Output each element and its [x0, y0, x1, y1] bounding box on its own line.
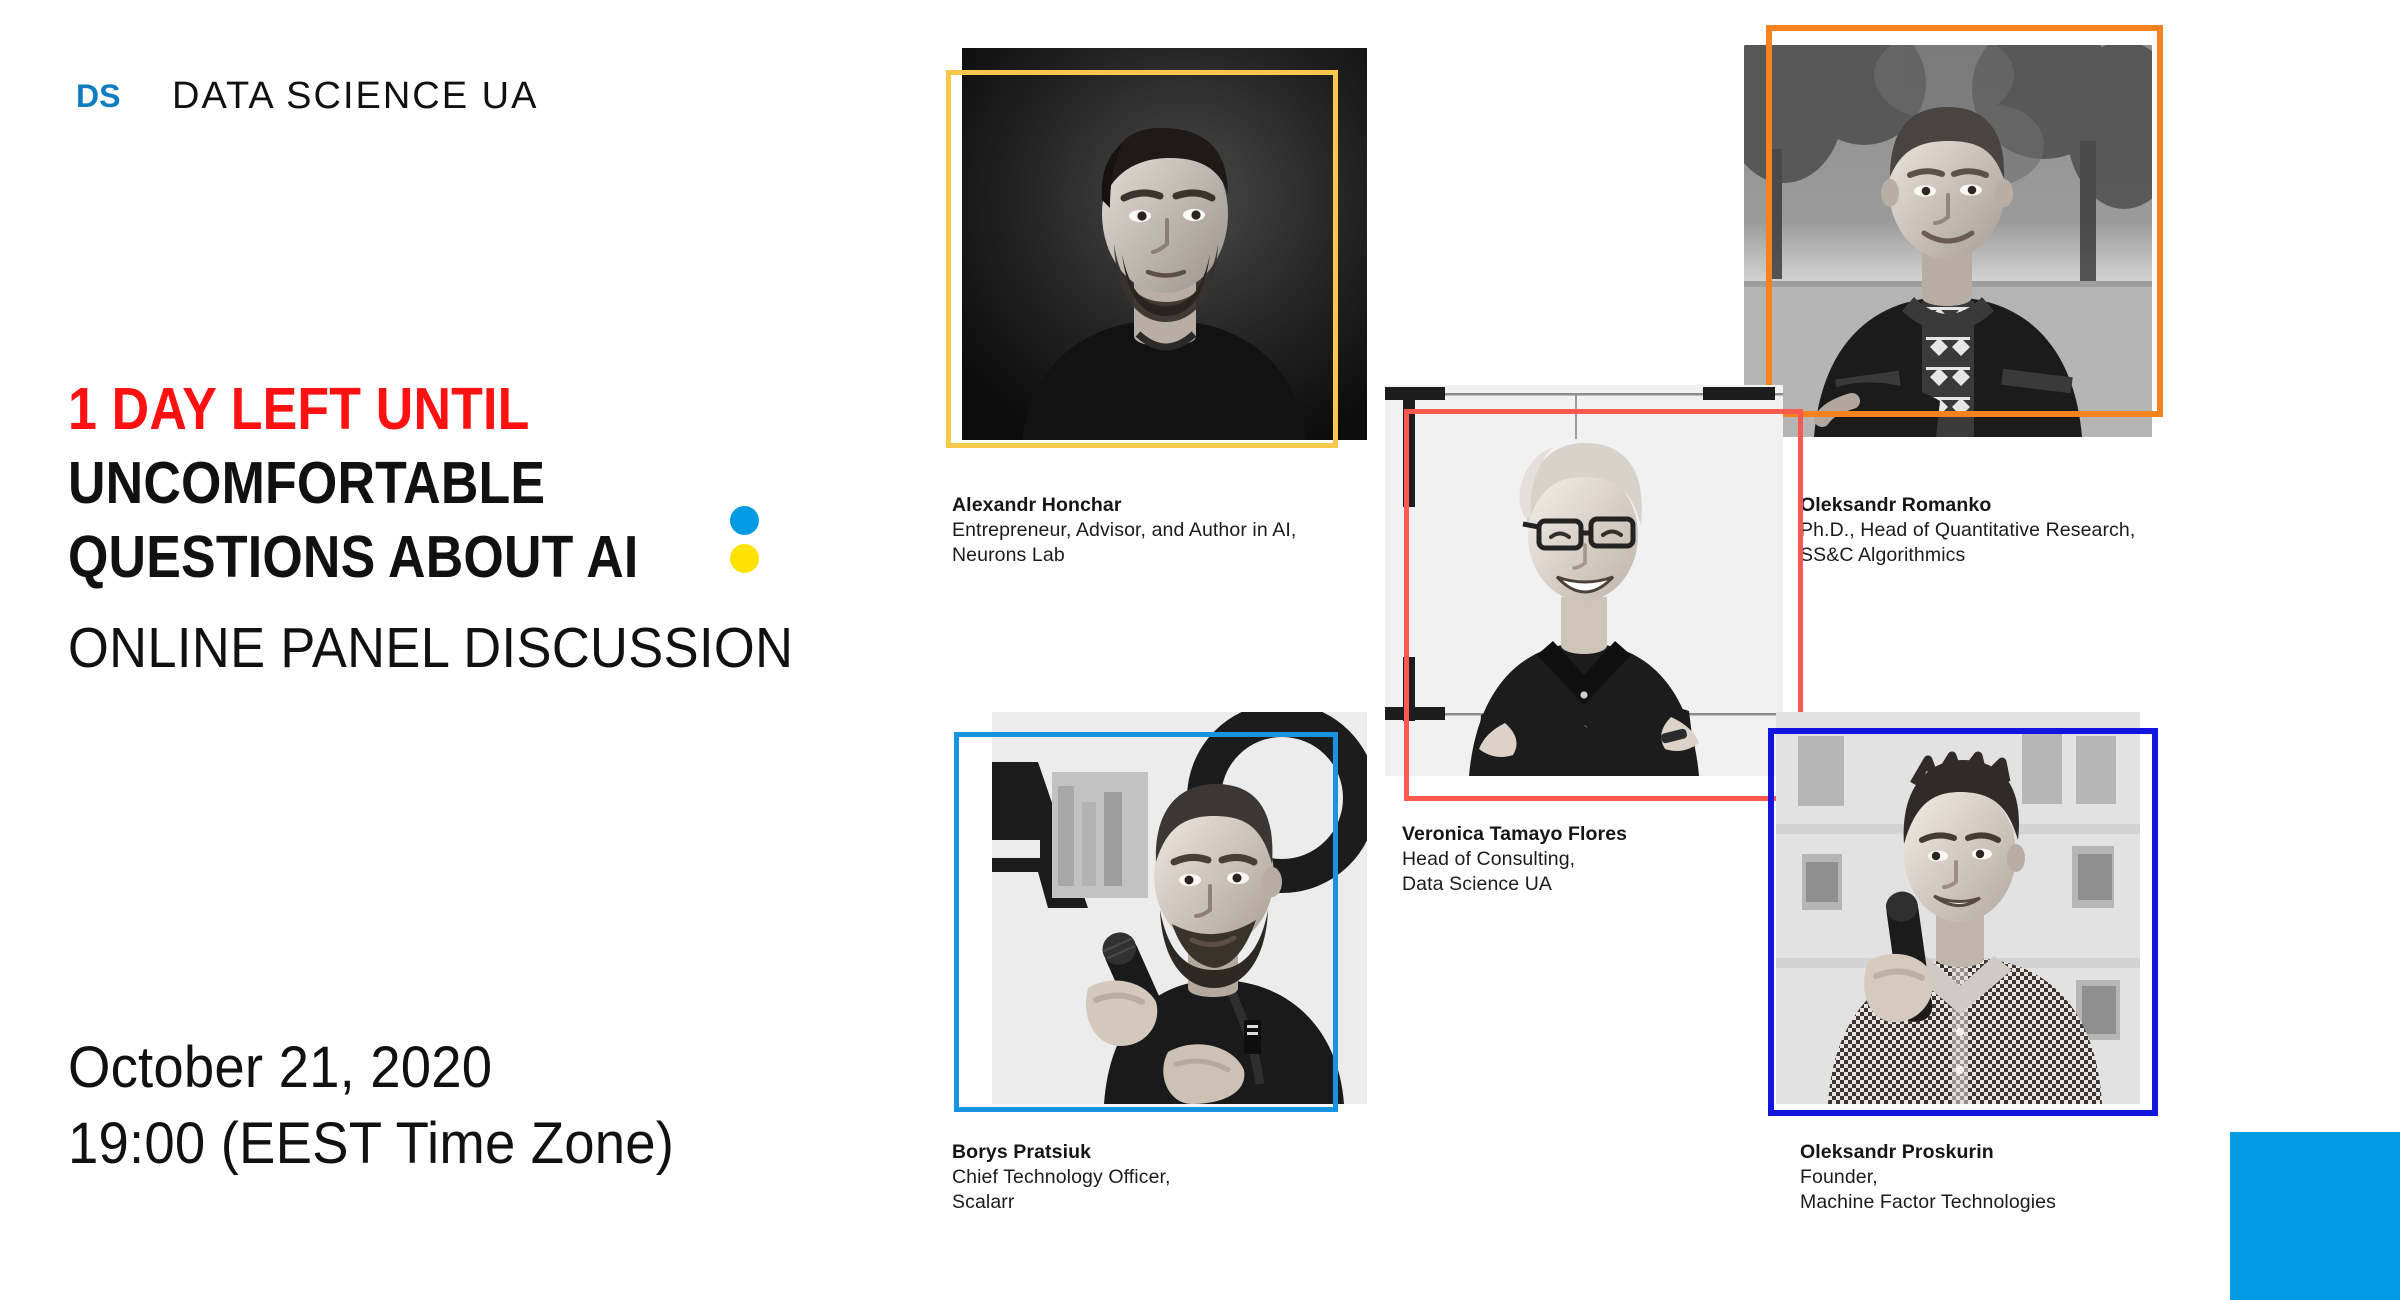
speaker-role-line-1: Chief Technology Officer, — [952, 1165, 1171, 1190]
speaker-caption-oleksandr-proskurin: Oleksandr Proskurin Founder, Machine Fac… — [1800, 1140, 2056, 1215]
headline-line-3: QUESTIONS ABOUT AI — [68, 520, 904, 594]
speaker-caption-alexandr-honchar: Alexandr Honchar Entrepreneur, Advisor, … — [952, 493, 1296, 568]
colon-dot-top — [730, 506, 759, 535]
speaker-name: Alexandr Honchar — [952, 493, 1296, 518]
speaker-role-line-2: Machine Factor Technologies — [1800, 1190, 2056, 1215]
speaker-role-line-2: Neurons Lab — [952, 543, 1296, 568]
ukraine-colon-icon — [730, 506, 760, 573]
colon-dot-bottom — [730, 544, 759, 573]
headline-block: 1 DAY LEFT UNTIL UNCOMFORTABLE QUESTIONS… — [68, 372, 1018, 684]
speaker-role-line-1: Entrepreneur, Advisor, and Author in AI, — [952, 518, 1296, 543]
speaker-caption-veronica-tamayo-flores: Veronica Tamayo Flores Head of Consultin… — [1402, 822, 1627, 897]
ds-logo-icon: DS — [68, 55, 150, 137]
speaker-role-line-2: Data Science UA — [1402, 872, 1627, 897]
speaker-name: Veronica Tamayo Flores — [1402, 822, 1627, 847]
event-datetime: October 21, 2020 19:00 (EEST Time Zone) — [68, 1030, 713, 1182]
headline-line-1: 1 DAY LEFT UNTIL — [68, 372, 904, 446]
speaker-caption-borys-pratsiuk: Borys Pratsiuk Chief Technology Officer,… — [952, 1140, 1171, 1215]
speaker-role-line-1: Ph.D., Head of Quantitative Research, — [1800, 518, 2135, 543]
logo-wordmark: DATA SCIENCE UA — [172, 75, 538, 118]
speaker-name: Borys Pratsiuk — [952, 1140, 1171, 1165]
corner-accent-square — [2230, 1132, 2400, 1300]
headline-subtitle: ONLINE PANEL DISCUSSION — [68, 612, 942, 684]
speaker-caption-oleksandr-romanko: Oleksandr Romanko Ph.D., Head of Quantit… — [1800, 493, 2135, 568]
speaker-role-line-2: SS&C Algorithmics — [1800, 543, 2135, 568]
speaker-frame-borys-pratsiuk — [954, 732, 1338, 1112]
speaker-name: Oleksandr Romanko — [1800, 493, 2135, 518]
speaker-frame-oleksandr-romanko — [1766, 25, 2163, 417]
speaker-role-line-1: Head of Consulting, — [1402, 847, 1627, 872]
speaker-frame-oleksandr-proskurin — [1768, 728, 2158, 1116]
speaker-frame-alexandr-honchar — [946, 70, 1338, 448]
headline-line-2: UNCOMFORTABLE — [68, 446, 904, 520]
event-date: October 21, 2020 — [68, 1030, 674, 1106]
speaker-name: Oleksandr Proskurin — [1800, 1140, 2056, 1165]
svg-text:DS: DS — [76, 78, 120, 114]
speaker-role-line-2: Scalarr — [952, 1190, 1171, 1215]
event-time: 19:00 (EEST Time Zone) — [68, 1106, 674, 1182]
brand-logo: DS DATA SCIENCE UA — [68, 55, 538, 137]
speaker-role-line-1: Founder, — [1800, 1165, 2056, 1190]
speaker-frame-veronica-tamayo-flores — [1404, 409, 1803, 801]
